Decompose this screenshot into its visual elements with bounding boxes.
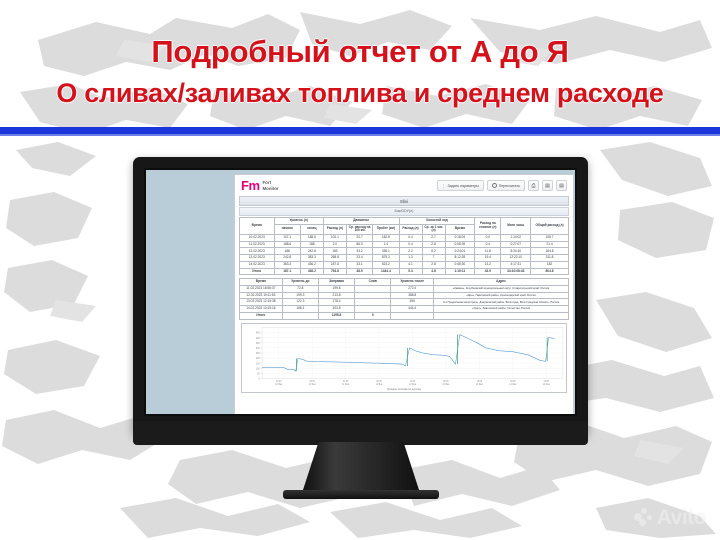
group-movement: Движение [323,217,399,224]
svg-text:12:00: 12:00 [477,380,483,382]
table-cell: 7 [422,255,445,262]
col-idle-consumption: Расход (л) [399,224,422,234]
col-move-consumption: Расход (л) [323,224,346,234]
table-cell: 0.4 [475,241,501,248]
recalculate-button[interactable]: Пересчитать [487,180,525,191]
report-toolbar: ⋮ Задать параметры Пересчитать ⎙ ▤ ▤ [437,180,568,191]
table-total-cell: 187.1 [274,268,300,275]
table-cell: 8.2 [422,248,445,255]
svg-text:300: 300 [256,346,260,349]
poster-stage: Подробный отчет от А до Я О сливах/залив… [0,0,720,540]
cell-level-before: 122.3 [282,299,318,306]
header-divider-secondary [0,134,720,136]
col-level-end: конец [300,224,323,234]
table-cell: 242.8 [274,255,300,262]
cell-level-after: 272.4 [391,285,434,292]
monitor-stand-base [283,490,439,499]
table-cell: 1:14:02 [501,234,531,241]
table-cell: 12:22:10 [501,255,531,262]
col-mileage: Пробег (км) [373,224,399,234]
table-cell: 33.4 [346,255,372,262]
svg-text:350: 350 [256,341,260,344]
cell-refuel-time: 13.02.2023 12:15:38 [240,299,283,306]
table-cell: 8:12:28 [445,255,475,262]
table-total-cell [434,312,569,319]
refuel-table-body: 11.02.2023 18:58:3772.8199.8272.4«Кавказ… [240,285,569,319]
table-total-cell: Итого [240,268,275,275]
table-cell: 336.1 [373,248,399,255]
table-row: 10.02.2023107.1188.6102.120.7182.80.42.7… [240,234,569,241]
svg-text:12:00: 12:00 [276,380,282,382]
table-cell: 0:08:39 [445,241,475,248]
col-parking-consumption: Расход на стоянке (л) [475,217,501,234]
table-cell: 33.2 [346,248,372,255]
table-cell: 383.3 [300,255,323,262]
svg-text:12:00: 12:00 [410,380,416,382]
svg-text:100: 100 [256,367,260,370]
monitor-stand-neck [302,442,420,493]
cell-refuel-time: 14.02.2023 13:15:16 [240,306,283,313]
col-refuel-time: Время [240,278,283,285]
table-cell: 1.4 [373,241,399,248]
svg-text:00:00: 00:00 [443,380,449,382]
set-params-label: Задать параметры [448,184,479,188]
col-level-before: Уровень до [282,278,318,285]
table-row: 13.02.2023188242.818333.2336.12.28.20:24… [240,248,569,255]
svg-text:12 Фев: 12 Фев [409,382,417,385]
svg-text:13 Фев: 13 Фев [476,382,484,385]
group-idle: Холостой ход [399,217,475,224]
refuel-table: Время Уровень до Заправка Слив Уровень п… [239,278,569,320]
cell-refuel-amount: 213.8 [318,292,354,299]
chart-caption: Уровень топлива по датчику [242,388,566,391]
sliders-icon: ⋮ [442,183,446,188]
col-level-after: Уровень после [391,278,434,285]
table-cell: 8:34:10 [501,248,531,255]
table-cell: 11.02.2023 [240,241,275,248]
report-title: Slivi [239,196,569,206]
table-cell: 183 [323,248,346,255]
table-total-cell: 804.8 [531,268,569,275]
cell-level-after: 388.8 [391,292,434,299]
logo-name: Fort Monitor [263,180,279,190]
col-total-consumption: Общий расход (л) [531,217,569,234]
table-cell: 33.1 [346,261,372,268]
table-cell: 184.8 [531,248,569,255]
table-cell: 2.0 [323,241,346,248]
logo-mark: Fm [241,179,260,192]
recalculate-label: Пересчитать [499,184,520,188]
cell-drain-amount [355,299,391,306]
table-cell: 0:24:01 [445,248,475,255]
svg-text:250: 250 [256,352,260,355]
table-total-cell: 34:10:08:43 [501,268,531,275]
col-avg-per-100: Ср. расход на 100 км [346,224,372,234]
table-cell: 0.4 [399,241,422,248]
svg-text:200: 200 [256,357,260,360]
svg-text:11 Фев: 11 Фев [342,382,350,385]
table-total-cell: 1195.8 [318,312,354,319]
table-total-cell: 754.8 [323,268,346,275]
report-page: Fm Fort Monitor ⋮ Задать параметры [234,174,574,414]
table-cell: 188 [274,248,300,255]
cell-address: «Дон», Павловский район, Краснодарский к… [434,292,569,299]
table-total-cell: 42.9 [475,268,501,275]
table-cell: 13.2 [475,261,501,268]
cell-refuel-amount: 178.4 [318,299,354,306]
col-time: Время [240,217,275,234]
header-divider [0,127,720,134]
table-row: 14.02.2023 13:15:16168.1303.8444.4«Урал»… [240,306,569,313]
cell-refuel-amount: 199.8 [318,285,354,292]
table-cell: 0.4 [399,234,422,241]
col-idle-time: Время [445,224,475,234]
table-cell: 1.3 [399,255,422,262]
svg-text:150: 150 [256,362,260,365]
app-top-bar: Fm Fort Monitor ⋮ Задать параметры [235,175,573,195]
table-total-cell: 0 [355,312,391,319]
main-table-head: Время Уровень (л) Движение Холостой ход … [240,217,569,234]
printer-icon[interactable]: ⎙ [528,180,539,191]
refuel-header-row: Время Уровень до Заправка Слив Уровень п… [240,278,569,285]
avito-logo-icon [634,508,653,527]
avito-brand: Avito [657,507,706,528]
cell-drain-amount [355,292,391,299]
table-row: 12.02.2023 19:11:53199.3213.8388.8«Дон»,… [240,292,569,299]
monitor-frame: Fm Fort Monitor ⋮ Задать параметры [133,157,588,434]
fuel-chart-svg: 05010015020025030035040045012:0010 Фев00… [242,324,566,392]
table-cell: 188.6 [274,241,300,248]
table-total-cell: 5.4 [399,268,422,275]
table-cell: 2.8 [422,241,445,248]
table-cell: 13.02.2023 [240,255,275,262]
fuel-level-chart: 05010015020025030035040045012:0010 Фев00… [241,323,567,393]
table-cell: 86.0 [346,241,372,248]
cell-address: «Урал», Бавлинский район, Татарстан, Рос… [434,306,569,313]
main-table-group-row: Время Уровень (л) Движение Холостой ход … [240,217,569,224]
table-cell: 13.02.2023 [240,248,275,255]
app-logo[interactable]: Fm Fort Monitor [241,179,279,192]
table-cell: 107.1 [274,234,300,241]
table-cell: 182 [531,261,569,268]
cell-drain-amount [355,285,391,292]
refuel-table-head: Время Уровень до Заправка Слив Уровень п… [240,278,569,285]
svg-text:13 Фев: 13 Фев [442,382,450,385]
col-drain-amount: Слив [355,278,391,285]
table-cell: 2.2 [399,248,422,255]
cell-refuel-time: 12.02.2023 19:11:53 [240,292,283,299]
col-motohours: Мото часы [501,217,531,234]
table-total-row: Итого187.1436.2754.838.91444.45.44.81:19… [240,268,569,275]
cell-level-after: 355 [391,299,434,306]
excel-export-icon[interactable]: ▤ [542,180,553,191]
col-idle-per-hour: Ср. за 1 час (л) [422,224,445,234]
table-cell: 0:18:04 [445,234,475,241]
main-table-body: 10.02.2023107.1188.6102.120.7182.80.42.7… [240,234,569,275]
table-cell: 4.1 [399,261,422,268]
svg-text:0: 0 [258,377,260,380]
table-cell: 2.8 [422,261,445,268]
monitor-screen: Fm Fort Monitor ⋮ Задать параметры [146,170,575,414]
svg-text:00:00: 00:00 [376,380,382,382]
table-cell: 10.02.2023 [240,234,275,241]
table-cell: 11.8 [475,248,501,255]
set-params-button[interactable]: ⋮ Задать параметры [437,180,484,191]
col-level-start: начало [274,224,300,234]
table-cell: 2.7 [422,234,445,241]
svg-text:450: 450 [256,331,260,334]
cell-level-after: 444.4 [391,306,434,313]
cell-refuel-time: 11.02.2023 18:58:37 [240,285,283,292]
headline-line-2: О сливах/заливах топлива и среднем расхо… [0,78,720,109]
table-total-cell: Итого [240,312,283,319]
poster-header: Подробный отчет от А до Я О сливах/залив… [0,0,720,122]
cell-address: «Кавказ», Кочубеевский муниципальный окр… [434,285,569,292]
cell-drain-amount [355,306,391,313]
cell-refuel-amount: 303.8 [318,306,354,313]
table-total-cell: 1444.4 [373,268,399,275]
table-row: 11.02.2023188.61882.086.01.40.42.80:08:3… [240,241,569,248]
refresh-icon [492,183,497,188]
table-cell: 311.8 [531,255,569,262]
main-report-table: Время Уровень (л) Движение Холостой ход … [239,217,569,276]
table-cell: 108.7 [531,234,569,241]
table-cell: 0.0 [475,234,501,241]
table-cell: 242.8 [300,248,323,255]
cell-level-before: 72.8 [282,285,318,292]
pdf-export-icon[interactable]: ▤ [556,180,567,191]
table-total-cell: 38.9 [346,268,372,275]
svg-text:50: 50 [257,372,260,375]
table-cell: 19.4 [475,255,501,262]
table-total-row: Итого1195.80 [240,312,569,319]
table-cell: 268.8 [323,255,346,262]
table-cell: 523.2 [373,261,399,268]
table-total-cell [391,312,434,319]
col-address: Адрес [434,278,569,285]
vehicle-subtitle: Бак/DDУ(л) [239,207,569,216]
table-row: 13.02.2023 12:15:38122.3178.4355З-я Прод… [240,299,569,306]
table-total-cell: 436.2 [300,268,323,275]
group-level: Уровень (л) [274,217,323,224]
table-row: 11.02.2023 18:58:3772.8199.8272.4«Кавказ… [240,285,569,292]
svg-text:12 Фев: 12 Фев [376,382,384,385]
table-cell: 188 [300,241,323,248]
cell-level-before: 199.3 [282,292,318,299]
svg-text:12:00: 12:00 [544,380,550,382]
monitor-chin [133,421,588,445]
headline-line-1: Подробный отчет от А до Я [0,34,720,70]
table-cell: 187.8 [323,261,346,268]
svg-text:12:00: 12:00 [343,380,349,382]
table-cell: 188.6 [300,234,323,241]
table-total-cell: 1:19:11 [445,268,475,275]
avito-watermark: Avito [634,507,706,528]
svg-text:400: 400 [256,336,260,339]
table-cell: 182.8 [373,234,399,241]
svg-text:00:00: 00:00 [310,380,316,382]
svg-text:14 Фев: 14 Фев [543,382,551,385]
table-total-cell [282,312,318,319]
table-cell: 21.4 [531,241,569,248]
cell-address: З-я Продольная магистраль, Дзержинский р… [434,299,569,306]
table-cell: 102.1 [323,234,346,241]
table-cell: 20.7 [346,234,372,241]
table-cell: 4:17:31 [501,261,531,268]
table-row: 13.02.2023242.8383.3268.833.4875.31.378:… [240,255,569,262]
table-cell: 383.3 [274,261,300,268]
col-refuel-amount: Заправка [318,278,354,285]
cell-level-before: 168.1 [282,306,318,313]
table-cell: 0:27:07 [501,241,531,248]
table-cell: 436.2 [300,261,323,268]
svg-text:11 Фев: 11 Фев [309,382,317,385]
table-cell: 875.3 [373,255,399,262]
svg-text:14 Фев: 14 Фев [509,382,517,385]
table-total-cell: 4.8 [422,268,445,275]
refuel-section: Время Уровень до Заправка Слив Уровень п… [235,278,573,320]
svg-text:00:00: 00:00 [510,380,516,382]
logo-name-line2: Monitor [263,186,279,191]
svg-text:10 Фев: 10 Фев [275,382,283,385]
table-cell: 0:48:30 [445,261,475,268]
table-cell: 14.02.2023 [240,261,275,268]
table-row: 14.02.2023383.3436.2187.833.1523.24.12.8… [240,261,569,268]
